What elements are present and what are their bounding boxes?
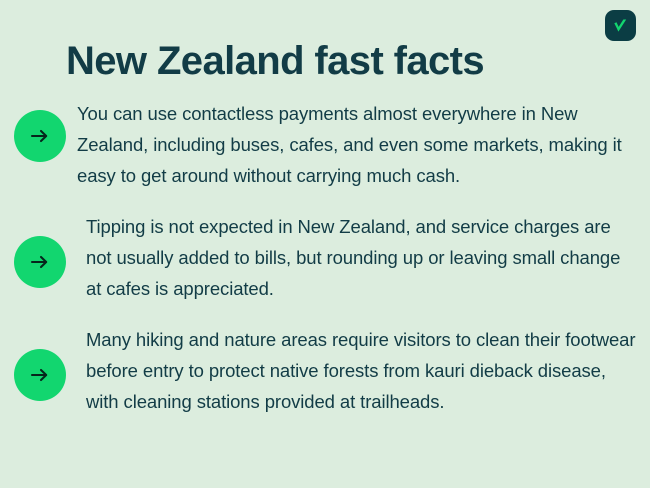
check-icon [611, 16, 630, 35]
arrow-right-icon [14, 236, 66, 288]
fact-text: Tipping is not expected in New Zealand, … [66, 211, 650, 304]
arrow-right-icon [14, 349, 66, 401]
facts-list: You can use contactless payments almost … [0, 98, 650, 417]
fact-text: Many hiking and nature areas require vis… [66, 324, 650, 417]
brand-logo-badge [605, 10, 636, 41]
arrow-right-icon [14, 110, 66, 162]
page-title: New Zealand fast facts [66, 40, 484, 83]
fact-text: You can use contactless payments almost … [66, 98, 650, 191]
list-item: Tipping is not expected in New Zealand, … [0, 211, 650, 304]
list-item: Many hiking and nature areas require vis… [0, 324, 650, 417]
fast-facts-slide: New Zealand fast facts You can use conta… [0, 0, 650, 488]
list-item: You can use contactless payments almost … [0, 98, 650, 191]
